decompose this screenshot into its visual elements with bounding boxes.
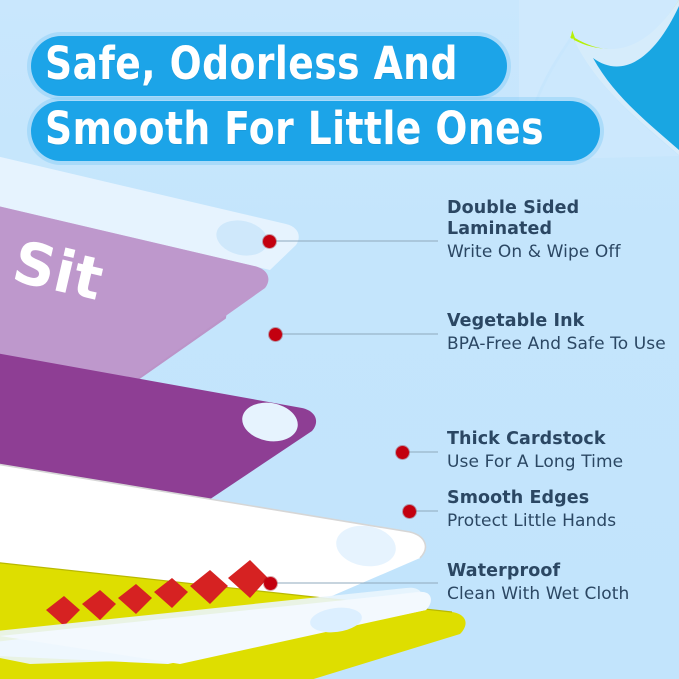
feature-title: Vegetable Ink [447,311,666,332]
feature-title: Double Sided [447,198,621,219]
title-line-2: Smooth For Little Ones [45,103,544,155]
feature-vegetable-ink: Vegetable Ink BPA-Free And Safe To Use [447,311,666,355]
title-line-1: Safe, Odorless And [45,38,458,90]
title-line-2-bar: Smooth For Little Ones [31,101,600,161]
marker-dot-1 [263,235,276,248]
feature-waterproof: Waterproof Clean With Wet Cloth [447,561,629,605]
feature-title: Waterproof [447,561,629,582]
feature-subtitle: Protect Little Hands [447,510,616,532]
feature-subtitle: Clean With Wet Cloth [447,583,629,605]
feature-subtitle: Write On & Wipe Off [447,241,621,263]
feature-thick-cardstock: Thick Cardstock Use For A Long Time [447,429,623,473]
feature-double-sided-laminated: Double Sided Laminated Write On & Wipe O… [447,198,621,263]
title-line-1-bar: Safe, Odorless And [31,36,507,96]
feature-smooth-edges: Smooth Edges Protect Little Hands [447,488,616,532]
feature-title: Thick Cardstock [447,429,623,450]
marker-dot-3 [396,446,409,459]
marker-dot-4 [403,505,416,518]
flashcard-stack: Sit [0,140,470,679]
feature-title-line2: Laminated [447,219,621,240]
marker-dot-2 [269,328,282,341]
infographic-canvas: Safe, Odorless And Smooth For Little One… [0,0,679,679]
feature-subtitle: Use For A Long Time [447,451,623,473]
marker-dot-5 [264,577,277,590]
feature-subtitle: BPA-Free And Safe To Use [447,333,666,355]
feature-title: Smooth Edges [447,488,616,509]
page-title: Safe, Odorless And Smooth For Little One… [31,36,600,161]
